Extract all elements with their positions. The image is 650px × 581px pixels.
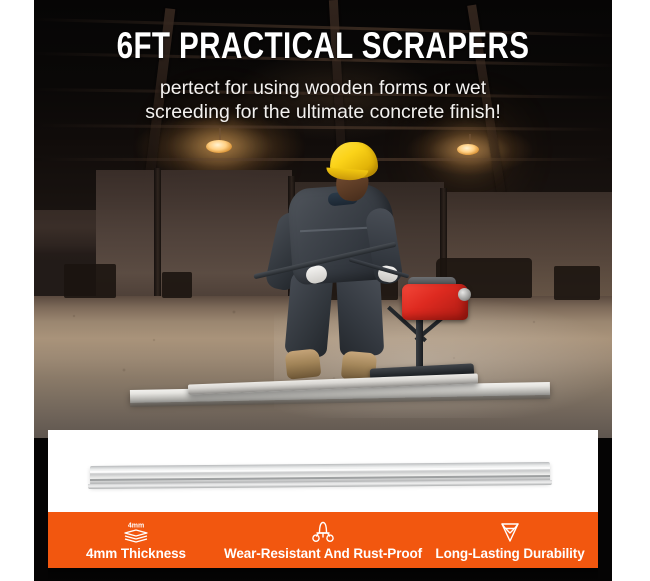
feature-item-wear-resistant: Wear-Resistant And Rust-Proof	[224, 520, 422, 561]
warehouse-column	[154, 168, 161, 298]
ceiling-lamp	[457, 144, 479, 155]
product-showcase-panel	[48, 430, 598, 512]
background-equipment	[162, 272, 192, 298]
background-equipment	[64, 264, 116, 298]
svg-text:4mm: 4mm	[128, 522, 144, 529]
header-text-block: 6FT PRACTICAL SCRAPERS pertect for using…	[34, 0, 612, 125]
shield-check-icon	[497, 520, 523, 543]
page-title: 6FT PRACTICAL SCRAPERS	[92, 0, 554, 64]
machine-fuel-cap	[458, 288, 471, 301]
feature-bar-shadow	[48, 568, 598, 581]
subtitle-line-1: pertect for using wooden forms or wet	[160, 77, 486, 99]
subtitle-line-2: screeding for the ultimate concrete fini…	[145, 101, 501, 123]
background-equipment	[554, 266, 600, 300]
feature-item-thickness: 4mm 4mm Thickness	[48, 520, 224, 561]
ceiling-lamp	[206, 140, 232, 153]
stacked-layers-icon: 4mm	[119, 520, 153, 543]
worker-left-boot	[285, 348, 322, 379]
feature-label: 4mm Thickness	[86, 546, 186, 561]
roller-wheels-icon	[311, 520, 335, 543]
feature-bar: 4mm 4mm Thickness	[48, 512, 598, 568]
feature-label: Long-Lasting Durability	[435, 546, 584, 561]
page-subtitle: pertect for using wooden forms or wet sc…	[34, 77, 612, 125]
machine-mast	[416, 316, 423, 368]
power-screed-machine	[364, 248, 494, 400]
product-poster: 6FT PRACTICAL SCRAPERS pertect for using…	[0, 0, 650, 581]
machine-engine	[402, 284, 468, 320]
feature-label: Wear-Resistant And Rust-Proof	[224, 546, 422, 561]
feature-item-durability: Long-Lasting Durability	[422, 520, 598, 561]
poster-scene: 6FT PRACTICAL SCRAPERS pertect for using…	[34, 0, 612, 581]
